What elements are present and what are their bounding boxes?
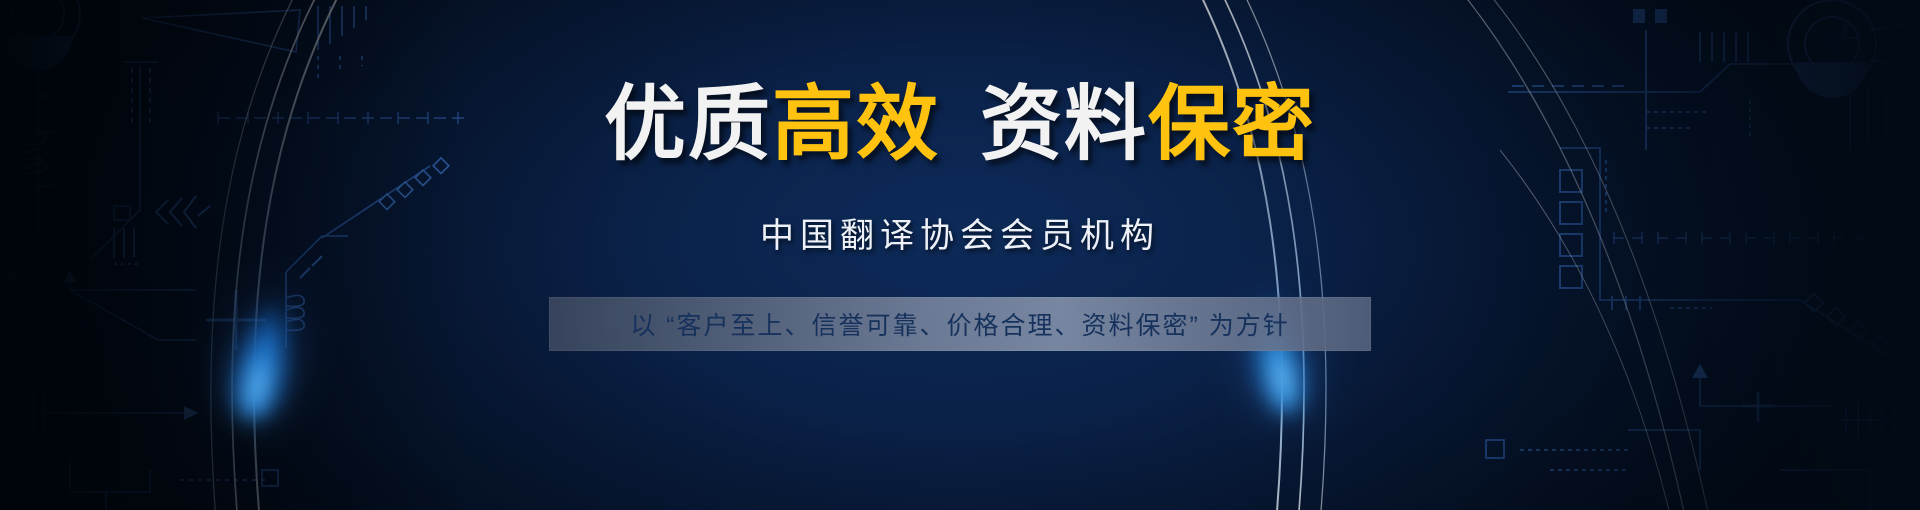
slogan-bar: 以 “客户至上、信誉可靠、价格合理、资料保密” 为方针 bbox=[549, 297, 1371, 351]
hero-banner: 优质 高效 资料 保密 中国翻译协会会员机构 以 “客户至上、信誉可靠、价格合理… bbox=[0, 0, 1920, 510]
slogan-text: 以 “客户至上、信誉可靠、价格合理、资料保密” 为方针 bbox=[630, 306, 1290, 342]
headline-segment-1: 优质 bbox=[604, 84, 772, 166]
headline: 优质 高效 资料 保密 bbox=[604, 84, 1316, 166]
headline-segment-4: 保密 bbox=[1148, 84, 1316, 166]
headline-segment-2: 高效 bbox=[772, 84, 940, 166]
banner-content: 优质 高效 资料 保密 中国翻译协会会员机构 以 “客户至上、信誉可靠、价格合理… bbox=[0, 0, 1920, 510]
headline-segment-3: 资料 bbox=[980, 84, 1148, 166]
subtitle: 中国翻译协会会员机构 bbox=[760, 208, 1160, 257]
